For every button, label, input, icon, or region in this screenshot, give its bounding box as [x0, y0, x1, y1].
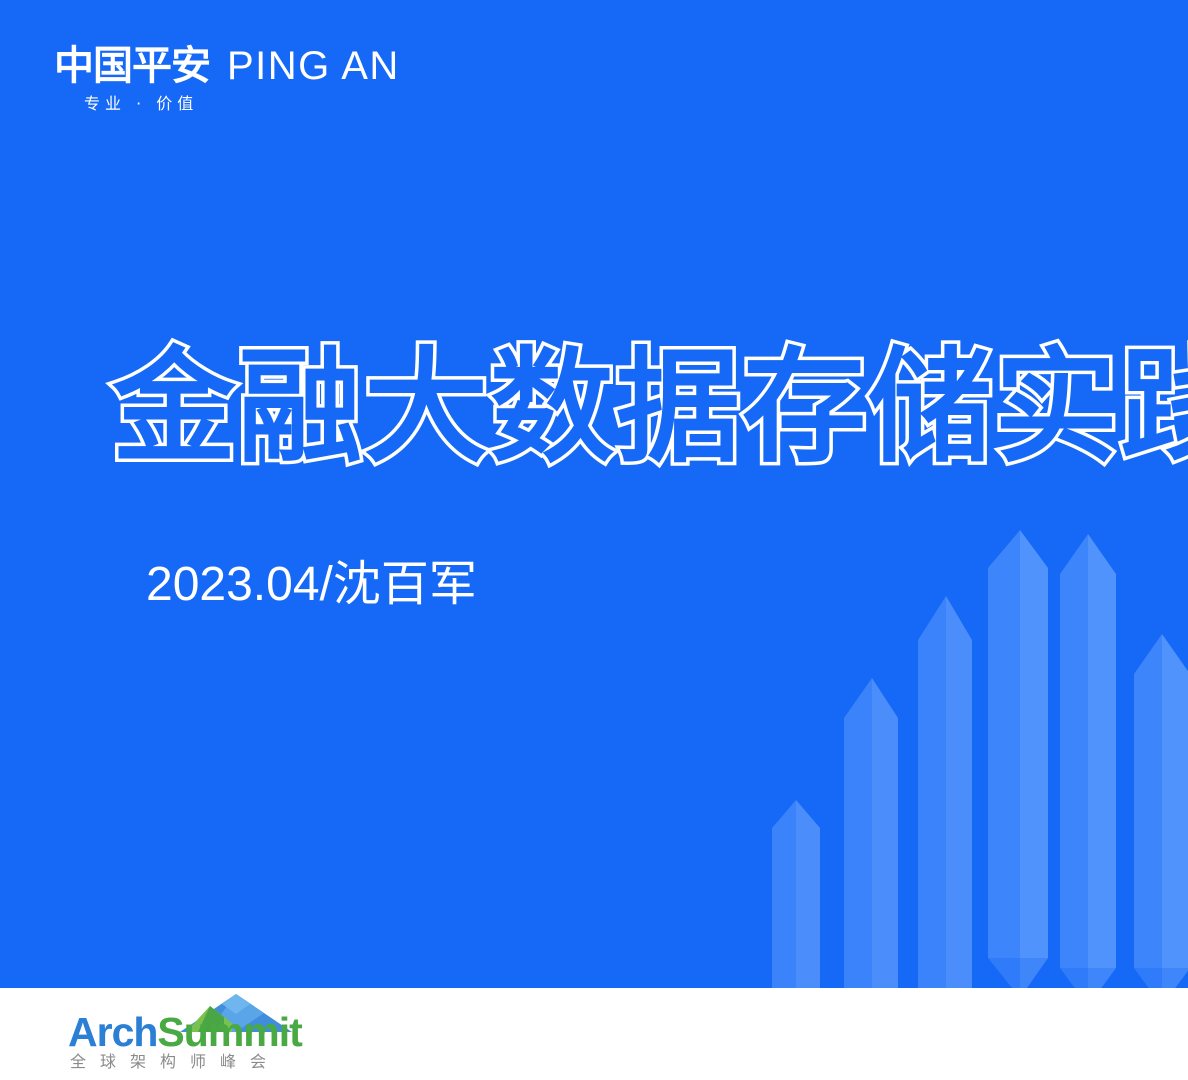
brand-name-en: PING AN [227, 46, 400, 86]
skyscrapers-graphic [748, 528, 1188, 988]
slide-stage: 中国平安 PING AN 专业 · 价值 金融大数据存储实践 2023.04/沈… [0, 0, 1188, 988]
archsummit-logo: ArchSummit 全球架构师峰会 [68, 994, 298, 1074]
archsummit-word-arch: Arch [68, 1009, 157, 1055]
archsummit-subtitle-cn: 全球架构师峰会 [70, 1052, 280, 1072]
archsummit-wordmark: ArchSummit [68, 1010, 302, 1054]
slide-subtitle: 2023.04/沈百军 [146, 555, 477, 615]
brand-tagline: 专业 · 价值 [84, 95, 474, 113]
slide-footer: ArchSummit 全球架构师峰会 [0, 988, 1188, 1080]
ping-an-logo-row: 中国平安 PING AN [54, 40, 474, 86]
slide-title-text: 金融大数据存储实践 [112, 336, 1188, 480]
archsummit-word-summit: Summit [157, 1009, 301, 1055]
presentation-slide: 中国平安 PING AN 专业 · 价值 金融大数据存储实践 2023.04/沈… [0, 0, 1188, 1080]
ping-an-logo: 中国平安 PING AN 专业 · 价值 [54, 40, 474, 113]
brand-name-cn: 中国平安 [54, 46, 210, 86]
slide-title: 金融大数据存储实践 [112, 341, 1188, 475]
